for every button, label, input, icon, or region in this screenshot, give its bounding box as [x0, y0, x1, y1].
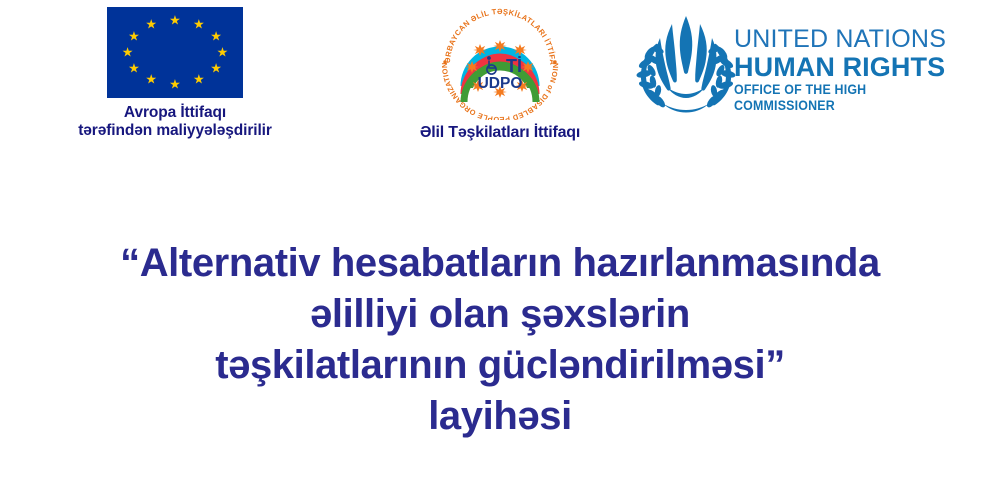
ohchr-logo-block: UNITED NATIONS HUMAN RIGHTS OFFICE OF TH…: [630, 6, 970, 118]
page-title: “Alternativ hesabatların hazırlanmasında…: [0, 238, 1000, 442]
european-union-logo-block: ★ ★ ★ ★ ★ ★ ★ ★ ★ ★ ★ ★ Avropa İttifaqı …: [40, 5, 310, 140]
ohchr-line-office-of-the-high-commissioner: OFFICE OF THE HIGH COMMISSIONER: [734, 82, 951, 114]
title-line-1: “Alternativ hesabatların hazırlanmasında: [0, 238, 1000, 289]
title-line-3: təşkilatlarının gücləndirilməsi”: [0, 340, 1000, 391]
udpo-logo-block: AZƏRBAYCAN ƏLİL TƏŞKİLATLARI İTTİFAQI UN…: [350, 2, 650, 142]
svg-text:Tİ: Tİ: [506, 56, 522, 76]
partner-logo-band: ★ ★ ★ ★ ★ ★ ★ ★ ★ ★ ★ ★ Avropa İttifaqı …: [0, 0, 1000, 155]
european-union-caption: Avropa İttifaqı tərəfindən maliyyələşdir…: [40, 104, 310, 140]
svg-text:UDPO: UDPO: [478, 75, 523, 92]
title-line-2: əlilliyi olan şəxslərin: [0, 289, 1000, 340]
ohchr-line-human-rights: HUMAN RIGHTS: [734, 53, 970, 82]
title-line-4: layihəsi: [0, 391, 1000, 442]
udpo-emblem-icon: AZƏRBAYCAN ƏLİL TƏŞKİLATLARI İTTİFAQI UN…: [436, 2, 564, 120]
european-union-caption-line-1: Avropa İttifaqı: [40, 104, 310, 122]
european-union-flag-icon: ★ ★ ★ ★ ★ ★ ★ ★ ★ ★ ★ ★: [107, 7, 243, 98]
european-union-caption-line-2: tərəfindən maliyyələşdirilir: [40, 122, 310, 140]
ohchr-wordmark: UNITED NATIONS HUMAN RIGHTS OFFICE OF TH…: [734, 26, 970, 114]
udpo-caption: Əlil Təşkilatları İttifaqı: [350, 123, 650, 142]
un-human-rights-flame-laurel-icon: [632, 8, 740, 114]
ohchr-line-united-nations: UNITED NATIONS: [734, 26, 970, 53]
